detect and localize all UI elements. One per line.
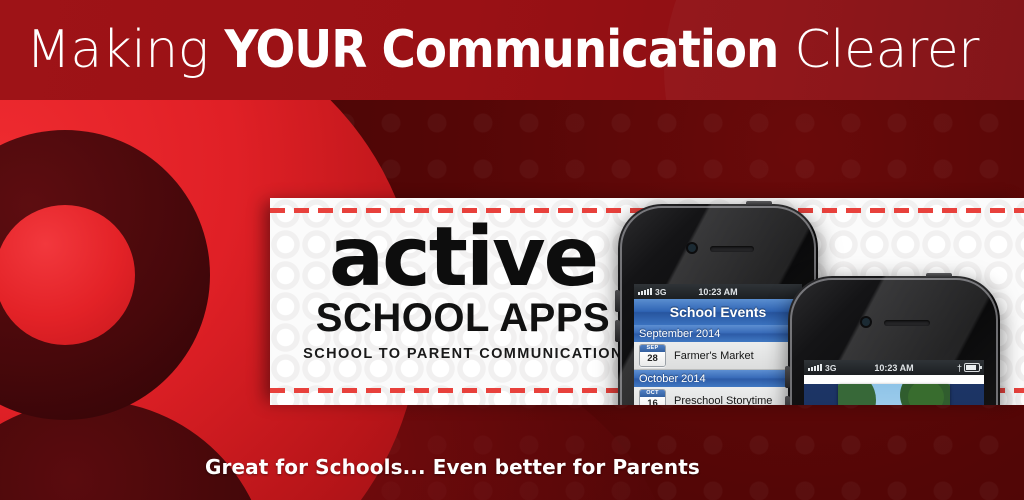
date-month: OCT xyxy=(640,390,665,397)
phone-volume-down-button[interactable] xyxy=(785,396,790,405)
phone-power-button[interactable] xyxy=(746,201,772,206)
phone-volume-up-button[interactable] xyxy=(785,366,790,388)
list-item[interactable]: OCT 16 Preschool Storytime xyxy=(634,387,802,405)
title-segment-bold: YOUR Communication xyxy=(224,20,778,80)
event-title: Preschool Storytime xyxy=(674,395,772,406)
photo-tree-right-2 xyxy=(908,384,944,405)
section-header-october: October 2014 xyxy=(634,370,802,387)
status-time: 10:23 AM xyxy=(634,287,802,297)
school-building-photo xyxy=(838,384,950,405)
logo-tagline: SCHOOL TO PARENT COMMUNICATION xyxy=(298,346,628,362)
date-day: 16 xyxy=(640,397,665,405)
phone-speaker-grille xyxy=(710,246,754,252)
phone-power-button[interactable] xyxy=(926,273,952,278)
phone-screen-events: 3G 10:23 AM School Events September 2014… xyxy=(634,284,802,405)
bluetooth-icon: † xyxy=(957,363,962,373)
bottom-tagline: Great for Schools... Even better for Par… xyxy=(205,455,700,479)
red-inner-dot-graphic xyxy=(0,205,135,345)
event-title: Farmer's Market xyxy=(674,350,754,362)
phone-camera-icon xyxy=(862,318,870,326)
phone-speaker-grille xyxy=(884,320,930,326)
logo-wordmark: active xyxy=(298,220,628,295)
phone-camera-icon xyxy=(688,244,696,252)
battery-icon xyxy=(964,363,980,372)
calendar-date-icon: OCT 16 xyxy=(639,389,666,405)
status-bar: 3G 10:23 AM xyxy=(634,284,802,299)
calendar-date-icon: SEP 28 xyxy=(639,344,666,367)
date-day: 28 xyxy=(640,352,665,366)
phone-mockup-school: 3G 10:23 AM † xyxy=(788,276,1000,405)
status-bar: 3G 10:23 AM † xyxy=(804,360,984,375)
phone-screen-school: 3G 10:23 AM † xyxy=(804,360,984,405)
title-segment-2: Clearer xyxy=(778,20,979,80)
navbar-title: School Events xyxy=(634,299,802,325)
school-home-screen: Arncliffe Public School xyxy=(804,384,984,405)
brand-logo: active SCHOOL APPS SCHOOL TO PARENT COMM… xyxy=(298,220,628,362)
page-title: Making YOUR Communication Clearer xyxy=(26,24,979,76)
photo-tree-left xyxy=(838,384,876,405)
list-item[interactable]: SEP 28 Farmer's Market xyxy=(634,342,802,370)
phone-volume-down-button[interactable] xyxy=(615,320,620,342)
date-month: SEP xyxy=(640,345,665,352)
logo-subtitle: SCHOOL APPS xyxy=(298,297,628,339)
phone-volume-up-button[interactable] xyxy=(615,290,620,312)
section-header-september: September 2014 xyxy=(634,325,802,342)
promo-banner: Making YOUR Communication Clearer active… xyxy=(0,0,1024,500)
title-segment-1: Making xyxy=(26,20,224,80)
header-banner: Making YOUR Communication Clearer xyxy=(0,0,1024,100)
logo-panel: active SCHOOL APPS SCHOOL TO PARENT COMM… xyxy=(270,198,1024,405)
